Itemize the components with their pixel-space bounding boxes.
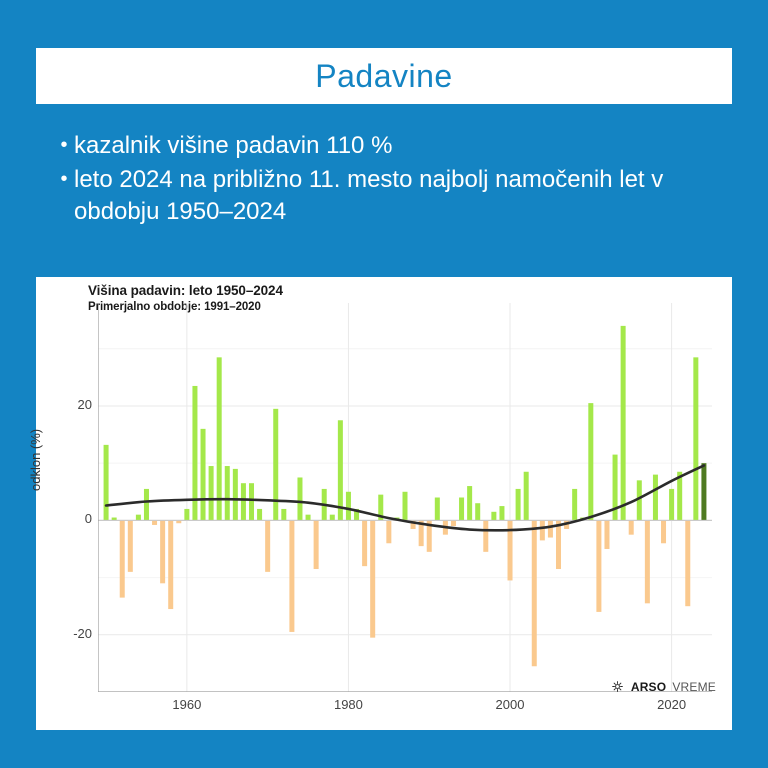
bar-1991: [435, 498, 440, 521]
bar-1960: [184, 509, 189, 520]
bar-1971: [273, 409, 278, 521]
x-tick-label: 2000: [485, 697, 535, 712]
bar-1972: [281, 509, 286, 520]
bar-1997: [483, 520, 488, 551]
chart-panel: Višina padavin: leto 1950–2024 Primerjal…: [36, 277, 732, 730]
x-tick-label: 1960: [162, 697, 212, 712]
bullet-text: kazalnik višine padavin 110 %: [74, 130, 714, 162]
bar-1966: [233, 469, 238, 520]
y-tick-label: -20: [58, 626, 92, 641]
bar-2008: [572, 489, 577, 520]
list-item: • kazalnik višine padavin 110 %: [54, 130, 714, 162]
arso-wordmark: ARSO: [631, 680, 666, 694]
bar-2024: [701, 463, 706, 520]
chart-title: Višina padavin: leto 1950–2024: [88, 283, 283, 298]
bar-1993: [451, 520, 456, 526]
bar-2019: [661, 520, 666, 543]
page-title: Padavine: [315, 60, 452, 92]
bar-2012: [604, 520, 609, 549]
bar-1964: [217, 357, 222, 520]
bar-1950: [104, 445, 109, 521]
bar-1956: [152, 520, 157, 525]
bar-1979: [338, 420, 343, 520]
plot-area: [98, 303, 712, 692]
bar-2004: [540, 520, 545, 540]
bar-1953: [128, 520, 133, 571]
bar-1963: [209, 466, 214, 520]
bar-2014: [621, 326, 626, 520]
bar-1994: [459, 498, 464, 521]
bar-1995: [467, 486, 472, 520]
bar-1954: [136, 515, 141, 521]
bar-1958: [168, 520, 173, 609]
bar-1983: [370, 520, 375, 637]
bar-2001: [516, 489, 521, 520]
bar-2010: [588, 403, 593, 520]
bar-2020: [669, 489, 674, 520]
bar-1957: [160, 520, 165, 583]
x-tick-label: 1980: [323, 697, 373, 712]
bar-2017: [645, 520, 650, 603]
y-tick-label: 20: [58, 397, 92, 412]
bar-1998: [491, 512, 496, 521]
bar-1952: [120, 520, 125, 597]
bar-1965: [225, 466, 230, 520]
bar-2023: [693, 357, 698, 520]
bar-2003: [532, 520, 537, 666]
bar-1999: [499, 506, 504, 520]
bar-2011: [596, 520, 601, 612]
bar-2002: [524, 472, 529, 521]
x-tick-label: 2020: [647, 697, 697, 712]
bar-1985: [386, 520, 391, 543]
bullet-dot-icon: •: [54, 130, 74, 161]
bar-1982: [362, 520, 367, 566]
bar-1955: [144, 489, 149, 520]
bar-2006: [556, 520, 561, 569]
bullet-dot-icon: •: [54, 164, 74, 195]
bar-1980: [346, 492, 351, 521]
bar-1974: [297, 477, 302, 520]
bar-1962: [201, 429, 206, 521]
vreme-wordmark: VREME: [672, 680, 716, 694]
bar-1976: [314, 520, 319, 569]
y-axis-label: odklon (%): [28, 429, 43, 491]
slide-title-banner: Padavine: [36, 48, 732, 104]
bar-1975: [306, 515, 311, 521]
bar-1970: [265, 520, 270, 571]
bar-2018: [653, 475, 658, 521]
bar-2015: [629, 520, 634, 534]
bar-2022: [685, 520, 690, 606]
arso-vreme-branding: ARSO VREME: [610, 679, 716, 694]
bullet-text: leto 2024 na približno 11. mesto najbolj…: [74, 164, 714, 228]
bar-1987: [402, 492, 407, 521]
bar-2005: [548, 520, 553, 537]
bar-1978: [330, 515, 335, 521]
precipitation-anomaly-bar-chart: [98, 303, 712, 692]
bullet-list: • kazalnik višine padavin 110 % • leto 2…: [54, 130, 714, 230]
sun-rays-icon: [610, 679, 625, 694]
bar-1973: [289, 520, 294, 632]
bar-1996: [475, 503, 480, 520]
y-tick-label: 0: [58, 511, 92, 526]
bar-1968: [249, 483, 254, 520]
bar-1967: [241, 483, 246, 520]
list-item: • leto 2024 na približno 11. mesto najbo…: [54, 164, 714, 228]
bar-1969: [257, 509, 262, 520]
